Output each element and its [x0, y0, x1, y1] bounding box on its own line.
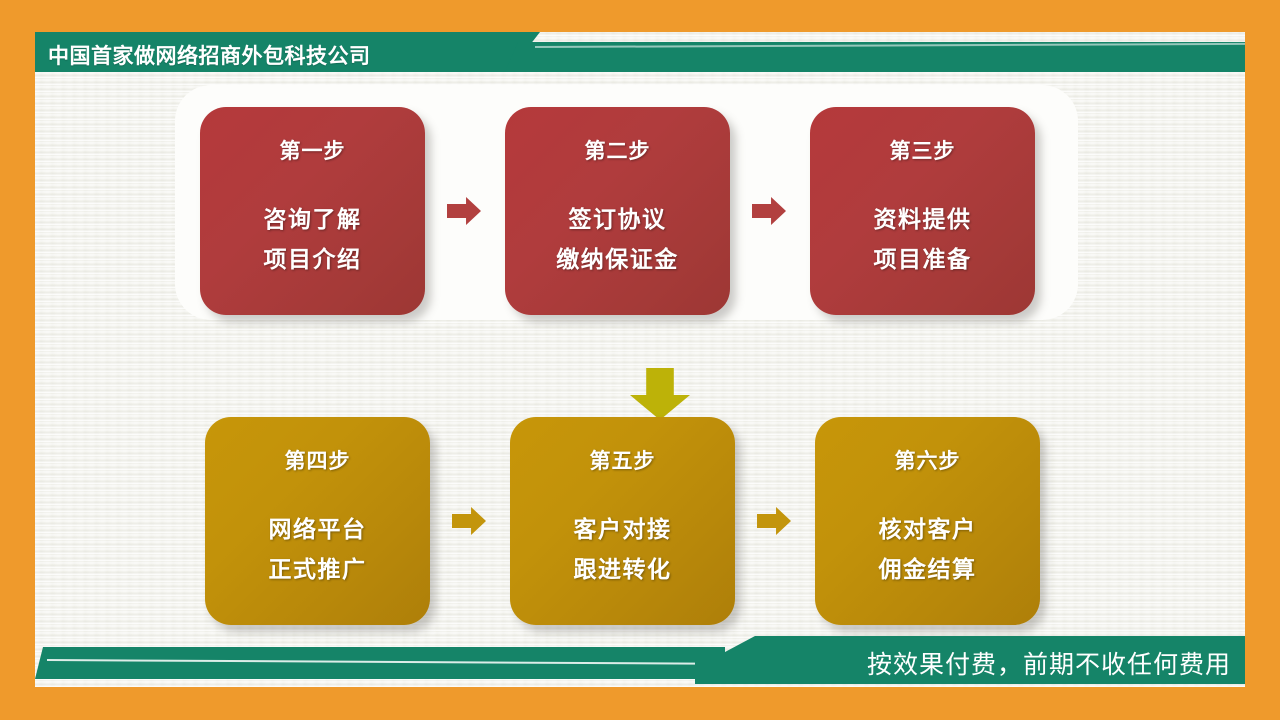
- step-card-5[interactable]: 第五步 客户对接 跟进转化: [510, 417, 735, 625]
- step-card-3[interactable]: 第三步 资料提供 项目准备: [810, 107, 1035, 315]
- step-card-1-line1: 咨询了解: [264, 199, 362, 239]
- step-card-1-line2: 项目介绍: [264, 239, 362, 279]
- step-row-top: 第一步 咨询了解 项目介绍 第二步 签订协议 缴纳保证金 第三步 资料提供: [200, 107, 1035, 315]
- step-card-1-title: 第一步: [280, 135, 346, 165]
- step-card-5-title: 第五步: [590, 445, 656, 475]
- arrow-right-red-icon: [730, 191, 810, 231]
- arrow-right-red-icon: [425, 191, 505, 231]
- step-card-1-body: 咨询了解 项目介绍: [264, 199, 362, 280]
- step-card-2-title: 第二步: [585, 135, 651, 165]
- step-card-4-body: 网络平台 正式推广: [269, 509, 367, 590]
- step-card-4[interactable]: 第四步 网络平台 正式推广: [205, 417, 430, 625]
- slide-canvas: 第一步 咨询了解 项目介绍 第二步 签订协议 缴纳保证金 第三步 资料提供: [0, 0, 1280, 720]
- step-card-2-body: 签订协议 缴纳保证金: [556, 199, 679, 280]
- step-card-4-line2: 正式推广: [269, 549, 367, 589]
- step-card-2-line1: 签订协议: [556, 199, 679, 239]
- step-card-2[interactable]: 第二步 签订协议 缴纳保证金: [505, 107, 730, 315]
- step-card-3-title: 第三步: [890, 135, 956, 165]
- arrow-right-gold-icon: [735, 501, 815, 541]
- step-card-3-body: 资料提供 项目准备: [874, 199, 972, 280]
- arrow-down-olive-icon: [630, 368, 690, 420]
- step-card-6-line2: 佣金结算: [879, 549, 977, 589]
- step-card-3-line2: 项目准备: [874, 239, 972, 279]
- step-card-6-title: 第六步: [895, 445, 961, 475]
- step-card-5-line1: 客户对接: [574, 509, 672, 549]
- step-card-4-line1: 网络平台: [269, 509, 367, 549]
- step-card-5-line2: 跟进转化: [574, 549, 672, 589]
- step-card-6[interactable]: 第六步 核对客户 佣金结算: [815, 417, 1040, 625]
- step-card-4-title: 第四步: [285, 445, 351, 475]
- slide-content-area: 第一步 咨询了解 项目介绍 第二步 签订协议 缴纳保证金 第三步 资料提供: [35, 32, 1245, 687]
- step-row-bottom: 第四步 网络平台 正式推广 第五步 客户对接 跟进转化 第六步 核对客户: [205, 417, 1040, 625]
- step-card-5-body: 客户对接 跟进转化: [574, 509, 672, 590]
- step-card-2-line2: 缴纳保证金: [556, 239, 679, 279]
- step-card-6-line1: 核对客户: [879, 509, 977, 549]
- step-card-3-line1: 资料提供: [874, 199, 972, 239]
- step-card-1[interactable]: 第一步 咨询了解 项目介绍: [200, 107, 425, 315]
- arrow-right-gold-icon: [430, 501, 510, 541]
- step-card-6-body: 核对客户 佣金结算: [879, 509, 977, 590]
